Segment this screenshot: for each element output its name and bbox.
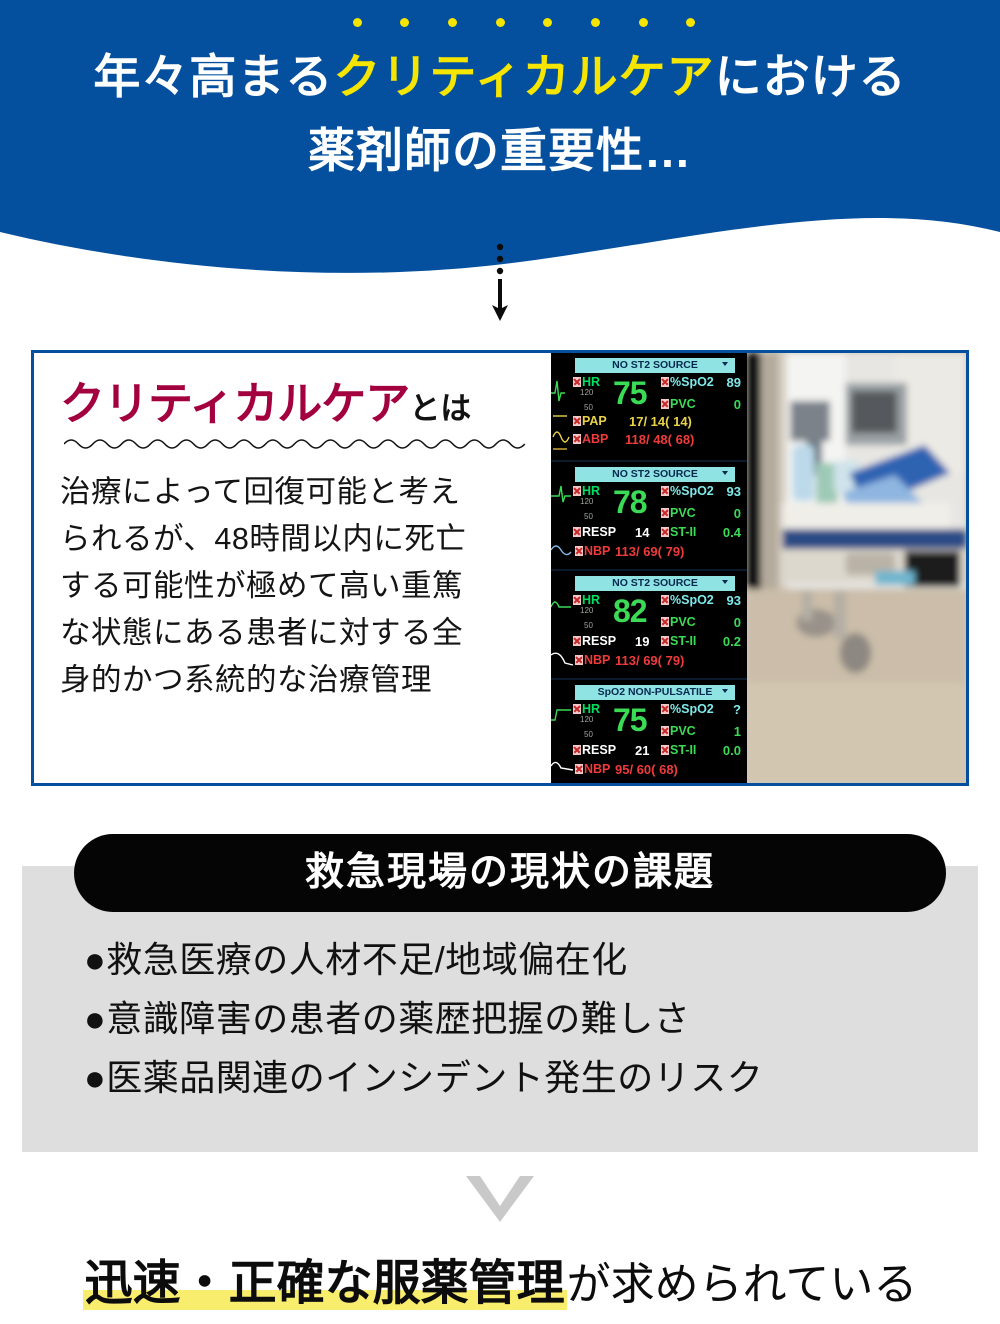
- spo2-value: 89: [727, 375, 741, 390]
- hr-range-high: 120: [580, 388, 593, 397]
- resp-label: RESP: [573, 525, 616, 539]
- definition-body-text: 治療によって回復可能と考え られるが、48時間以内に死亡 する可能性が極めて高い…: [60, 469, 530, 704]
- stii-value: 0.4: [723, 525, 741, 540]
- patient-monitor-panel-2: NO ST2 SOURCE HR 120 50 78 %SpO2 93 PVC …: [551, 462, 747, 571]
- chevron-down-icon: [722, 471, 728, 475]
- resp-label: RESP: [573, 634, 616, 648]
- hr-label: HR: [573, 702, 600, 716]
- challenges-heading-badge: 救急現場の現状の課題: [74, 834, 946, 912]
- nbp-label: NBP: [575, 544, 610, 558]
- ecg-waveform-icon: [551, 571, 575, 678]
- hr-range-low: 50: [584, 730, 593, 739]
- header-text-before: 年々高まる: [93, 50, 333, 103]
- definition-body-line: 治療によって回復可能と考え: [60, 469, 530, 516]
- alarm-off-icon: [661, 726, 669, 736]
- spo2-label: %SpO2: [661, 375, 714, 389]
- definition-body-line: 身的かつ系統的な治療管理: [60, 657, 530, 704]
- monitor-alarm-banner: NO ST2 SOURCE: [575, 467, 735, 482]
- conclusion-rest-text: が求められている: [567, 1260, 918, 1309]
- spo2-label: %SpO2: [661, 593, 714, 607]
- alarm-off-icon: [661, 508, 669, 518]
- alarm-off-icon: [661, 486, 669, 496]
- abp-value: 118/ 48( 68): [625, 432, 694, 447]
- monitor-alarm-text: NO ST2 SOURCE: [612, 359, 698, 371]
- resp-label: RESP: [573, 743, 616, 757]
- header-text-after: における: [715, 50, 907, 103]
- conclusion-highlighted-text: 迅速・正確な服薬管理: [83, 1257, 567, 1310]
- definition-text-column: クリティカルケアとは 治療によって回復可能と考え られるが、48時間以内に死亡 …: [34, 353, 551, 783]
- definition-body-line: な状態にある患者に対する全: [60, 610, 530, 657]
- definition-title-main: クリティカルケア: [60, 378, 409, 429]
- header-accent-label: クリティカルケア: [333, 50, 714, 103]
- alarm-off-icon: [573, 486, 581, 496]
- alarm-off-icon: [575, 655, 583, 665]
- nbp-label: NBP: [575, 762, 610, 776]
- hr-range-low: 50: [584, 403, 593, 412]
- hr-range-low: 50: [584, 512, 593, 521]
- definition-body-line: する可能性が極めて高い重篤: [60, 563, 530, 610]
- alarm-off-icon: [661, 636, 669, 646]
- alarm-off-icon: [573, 704, 581, 714]
- definition-body-line: られるが、48時間以内に死亡: [60, 516, 530, 563]
- monitor-alarm-banner: NO ST2 SOURCE: [575, 576, 735, 591]
- spo2-label: %SpO2: [661, 484, 714, 498]
- icu-photo-illustration: [747, 353, 966, 783]
- spo2-value: 93: [727, 593, 741, 608]
- hr-label: HR: [573, 484, 600, 498]
- pvc-label: PVC: [661, 397, 696, 411]
- pap-value: 17/ 14( 14): [629, 414, 692, 429]
- abp-label: ABP: [573, 432, 608, 446]
- stii-label: ST-II: [661, 743, 696, 757]
- down-arrow-icon: [489, 243, 511, 323]
- ecg-waveform-icon: [551, 462, 575, 569]
- patient-monitor-panel-1: NO ST2 SOURCE HR 120 50 75 %SpO2 89 PVC …: [551, 353, 747, 462]
- alarm-off-icon: [661, 399, 669, 409]
- hr-value: 78: [613, 486, 647, 518]
- patient-monitor-panel-4: SpO2 NON-PULSATILE HR 120 50 75 %SpO2 ? …: [551, 680, 747, 786]
- definition-title: クリティカルケアとは: [60, 381, 551, 426]
- spo2-value: 93: [727, 484, 741, 499]
- hr-value: 75: [613, 377, 647, 409]
- list-item: ●救急医療の人材不足/地域偏在化: [84, 930, 964, 989]
- nbp-value: 113/ 69( 79): [615, 653, 684, 668]
- hr-range-low: 50: [584, 621, 593, 630]
- list-item: ●医薬品関連のインシデント発生のリスク: [84, 1048, 964, 1107]
- monitor-alarm-text: NO ST2 SOURCE: [612, 468, 698, 480]
- alarm-off-icon: [573, 745, 581, 755]
- patient-monitor-stack: NO ST2 SOURCE HR 120 50 75 %SpO2 89 PVC …: [551, 353, 747, 783]
- list-item: ●意識障害の患者の薬歴把握の難しさ: [84, 989, 964, 1048]
- alarm-off-icon: [573, 416, 581, 426]
- alarm-off-icon: [573, 434, 581, 444]
- hr-range-high: 120: [580, 715, 593, 724]
- hr-label: HR: [573, 375, 600, 389]
- nbp-label: NBP: [575, 653, 610, 667]
- stii-value: 0.0: [723, 743, 741, 758]
- hr-value: 75: [613, 704, 647, 736]
- ecg-waveform-icon: [551, 680, 575, 786]
- wavy-underline: [64, 436, 526, 450]
- chevron-down-icon: [722, 689, 728, 693]
- alarm-off-icon: [661, 377, 669, 387]
- critical-care-definition-box: クリティカルケアとは 治療によって回復可能と考え られるが、48時間以内に死亡 …: [31, 350, 969, 786]
- alarm-off-icon: [661, 595, 669, 605]
- resp-value: 14: [635, 525, 649, 540]
- hr-range-high: 120: [580, 606, 593, 615]
- monitor-alarm-text: SpO2 NON-PULSATILE: [598, 686, 713, 698]
- ecg-waveform-icon: [551, 353, 575, 460]
- chevron-down-icon: [722, 580, 728, 584]
- monitor-alarm-banner: NO ST2 SOURCE: [575, 358, 735, 373]
- resp-value: 19: [635, 634, 649, 649]
- nbp-value: 95/ 60( 68): [615, 762, 678, 777]
- patient-monitor-panel-3: NO ST2 SOURCE HR 120 50 82 %SpO2 93 PVC …: [551, 571, 747, 680]
- chevron-down-icon: [466, 1176, 534, 1222]
- resp-value: 21: [635, 743, 649, 758]
- alarm-off-icon: [573, 636, 581, 646]
- nbp-value: 113/ 69( 79): [615, 544, 684, 559]
- icu-room-photo: [747, 353, 966, 783]
- stii-label: ST-II: [661, 525, 696, 539]
- hr-range-high: 120: [580, 497, 593, 506]
- alarm-off-icon: [661, 527, 669, 537]
- header-line-1: 年々高まるクリティカルケアにおける: [0, 40, 1000, 114]
- pvc-label: PVC: [661, 506, 696, 520]
- pvc-label: PVC: [661, 724, 696, 738]
- alarm-off-icon: [573, 527, 581, 537]
- pvc-label: PVC: [661, 615, 696, 629]
- spo2-label: %SpO2: [661, 702, 714, 716]
- alarm-off-icon: [661, 617, 669, 627]
- header-line-2: 薬剤師の重要性…: [0, 114, 1000, 188]
- pvc-value: 0: [734, 506, 741, 521]
- pvc-value: 0: [734, 397, 741, 412]
- chevron-down-icon: [722, 362, 728, 366]
- monitor-alarm-banner: SpO2 NON-PULSATILE: [575, 685, 735, 700]
- alarm-off-icon: [573, 595, 581, 605]
- stii-value: 0.2: [723, 634, 741, 649]
- alarm-off-icon: [575, 546, 583, 556]
- alarm-off-icon: [661, 745, 669, 755]
- monitor-alarm-text: NO ST2 SOURCE: [612, 577, 698, 589]
- hr-value: 82: [613, 595, 647, 627]
- header-title-block: 年々高まるクリティカルケアにおける 薬剤師の重要性…: [0, 40, 1000, 188]
- hr-label: HR: [573, 593, 600, 607]
- pvc-value: 1: [734, 724, 741, 739]
- stii-label: ST-II: [661, 634, 696, 648]
- definition-title-suffix: とは: [409, 391, 471, 426]
- header-accent-text: クリティカルケア: [333, 40, 714, 114]
- pap-label: PAP: [573, 414, 607, 428]
- spo2-value: ?: [733, 702, 741, 717]
- conclusion-statement: 迅速・正確な服薬管理が求められている: [0, 1243, 1000, 1313]
- pvc-value: 0: [734, 615, 741, 630]
- alarm-off-icon: [573, 377, 581, 387]
- alarm-off-icon: [661, 704, 669, 714]
- down-arrow-connector: [489, 243, 511, 323]
- alarm-off-icon: [575, 764, 583, 774]
- challenges-list: ●救急医療の人材不足/地域偏在化 ●意識障害の患者の薬歴把握の難しさ ●医薬品関…: [84, 930, 964, 1107]
